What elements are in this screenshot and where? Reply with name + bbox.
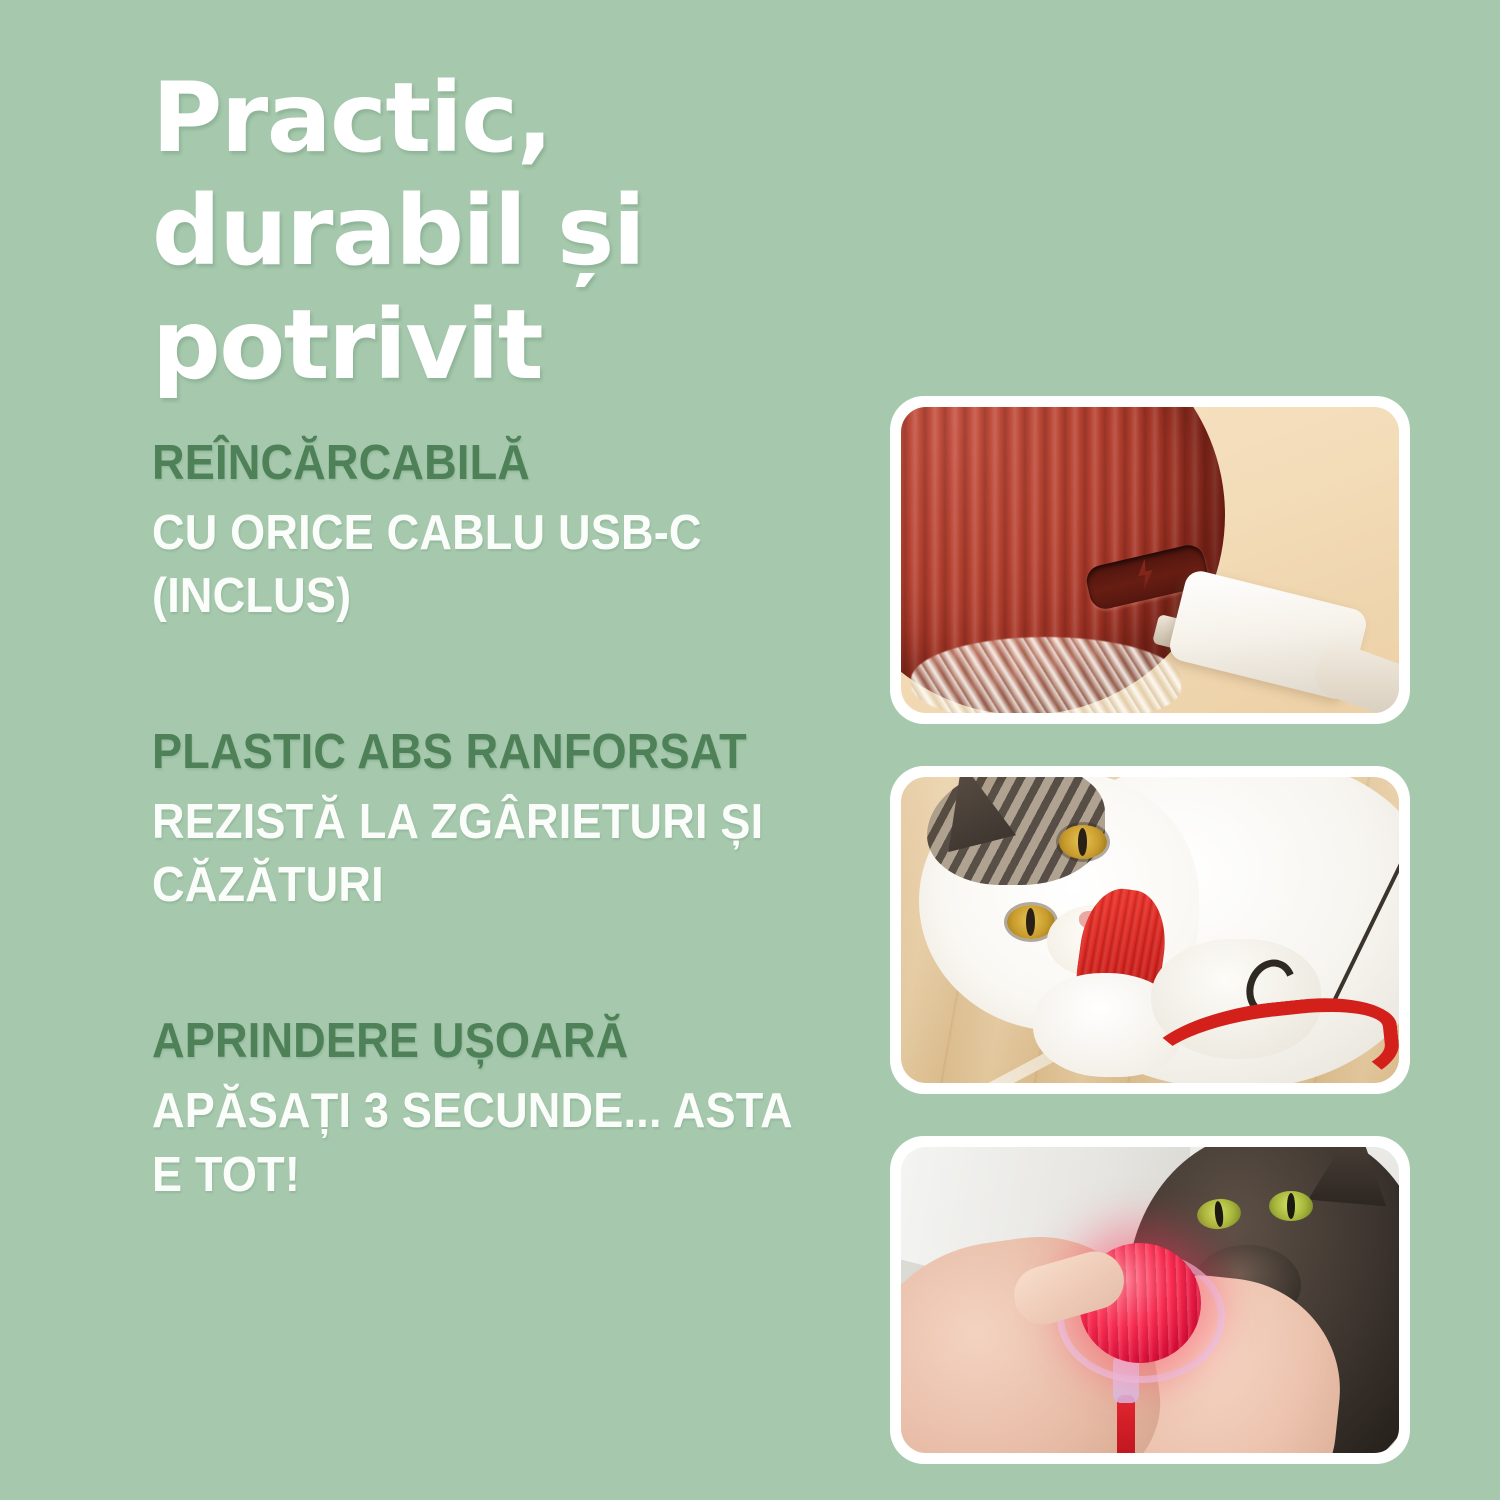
feature-body: APĂSAȚI 3 SECUNDE... ASTA E TOT! <box>152 1080 805 1207</box>
feature-heading: REÎNCĂRCABILĂ <box>152 432 805 496</box>
feature-item-easy-power-on: APRINDERE UȘOARĂ APĂSAȚI 3 SECUNDE... AS… <box>152 1010 862 1207</box>
feature-image-card-cat-play <box>890 766 1410 1094</box>
cat-pupil <box>1026 908 1035 936</box>
feature-item-rechargeable: REÎNCĂRCABILĂ CU ORICE CABLU USB-C (INCL… <box>152 432 862 629</box>
cat-eye <box>1059 825 1107 859</box>
feature-heading: APRINDERE UȘOARĂ <box>152 1010 805 1074</box>
promo-poster: Practic, durabil și potrivit REÎNCĂRCABI… <box>0 0 1500 1500</box>
dark-cat-pupil <box>1214 1201 1225 1228</box>
cat-playing-photo <box>901 777 1399 1083</box>
page-title: Practic, durabil și potrivit <box>152 62 852 402</box>
feature-heading: PLASTIC ABS RANFORSAT <box>152 721 805 785</box>
feature-item-abs-plastic: PLASTIC ABS RANFORSAT REZISTĂ LA ZGÂRIET… <box>152 721 862 918</box>
crinkle-tail-shape <box>911 637 1181 713</box>
toy-tail-shape <box>1117 1395 1135 1453</box>
feature-body: CU ORICE CABLU USB-C (INCLUS) <box>152 502 805 629</box>
dark-cat-pupil <box>1287 1193 1295 1219</box>
feature-image-card-charging <box>890 396 1410 724</box>
product-charging-photo <box>901 407 1399 713</box>
feature-list: REÎNCĂRCABILĂ CU ORICE CABLU USB-C (INCL… <box>152 432 862 1207</box>
dark-cat-eye <box>1269 1191 1313 1221</box>
cat-pupil <box>1078 828 1087 856</box>
feature-image-card-press-button <box>890 1136 1410 1464</box>
feature-image-list <box>890 396 1410 1464</box>
pressing-toy-photo <box>901 1147 1399 1453</box>
feature-body: REZISTĂ LA ZGÂRIETURI ȘI CĂZĂTURI <box>152 791 805 918</box>
